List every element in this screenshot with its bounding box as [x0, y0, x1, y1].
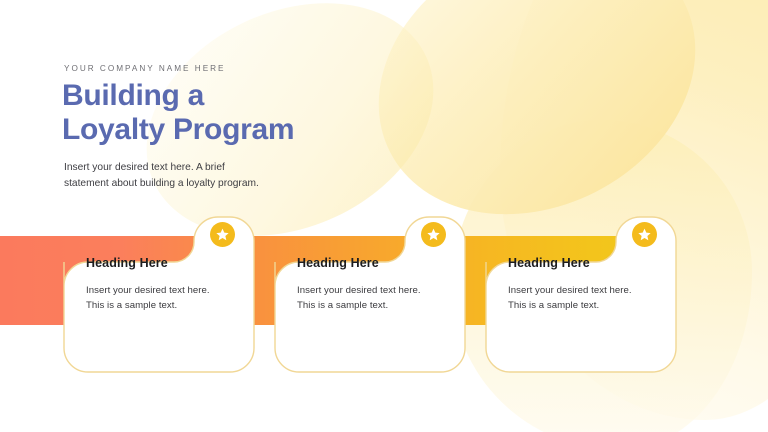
card-text-line-1: Insert your desired text here.	[508, 285, 632, 296]
page-subtitle-line-2: statement about building a loyalty progr…	[64, 176, 364, 192]
info-card[interactable]: Heading Here Insert your desired text he…	[486, 217, 676, 372]
card-text: Insert your desired text here. This is a…	[86, 284, 232, 314]
card-text-line-2: This is a sample text.	[508, 300, 599, 311]
card-text: Insert your desired text here. This is a…	[297, 284, 443, 314]
info-card[interactable]: Heading Here Insert your desired text he…	[275, 217, 465, 372]
slide-canvas: YOUR COMPANY NAME HERE Building a Loyalt…	[0, 0, 768, 432]
star-icon	[215, 227, 230, 242]
star-badge	[632, 222, 657, 247]
card-heading: Heading Here	[508, 257, 654, 271]
card-text-line-1: Insert your desired text here.	[297, 285, 421, 296]
page-title: Building a Loyalty Program	[62, 79, 392, 147]
page-subtitle-line-1: Insert your desired text here. A brief	[64, 160, 364, 176]
page-title-line-1: Building a	[62, 79, 392, 113]
star-badge	[210, 222, 235, 247]
star-badge	[421, 222, 446, 247]
page-title-line-2: Loyalty Program	[62, 113, 392, 147]
card-text-line-2: This is a sample text.	[86, 300, 177, 311]
info-card[interactable]: Heading Here Insert your desired text he…	[64, 217, 254, 372]
card-text-line-2: This is a sample text.	[297, 300, 388, 311]
card-text: Insert your desired text here. This is a…	[508, 284, 654, 314]
card-content: Heading Here Insert your desired text he…	[275, 257, 465, 313]
card-text-line-1: Insert your desired text here.	[86, 285, 210, 296]
card-heading: Heading Here	[86, 257, 232, 271]
card-content: Heading Here Insert your desired text he…	[486, 257, 676, 313]
card-content: Heading Here Insert your desired text he…	[64, 257, 254, 313]
star-icon	[426, 227, 441, 242]
page-subtitle: Insert your desired text here. A brief s…	[64, 160, 364, 192]
card-heading: Heading Here	[297, 257, 443, 271]
company-name-label: YOUR COMPANY NAME HERE	[64, 64, 226, 73]
star-icon	[637, 227, 652, 242]
